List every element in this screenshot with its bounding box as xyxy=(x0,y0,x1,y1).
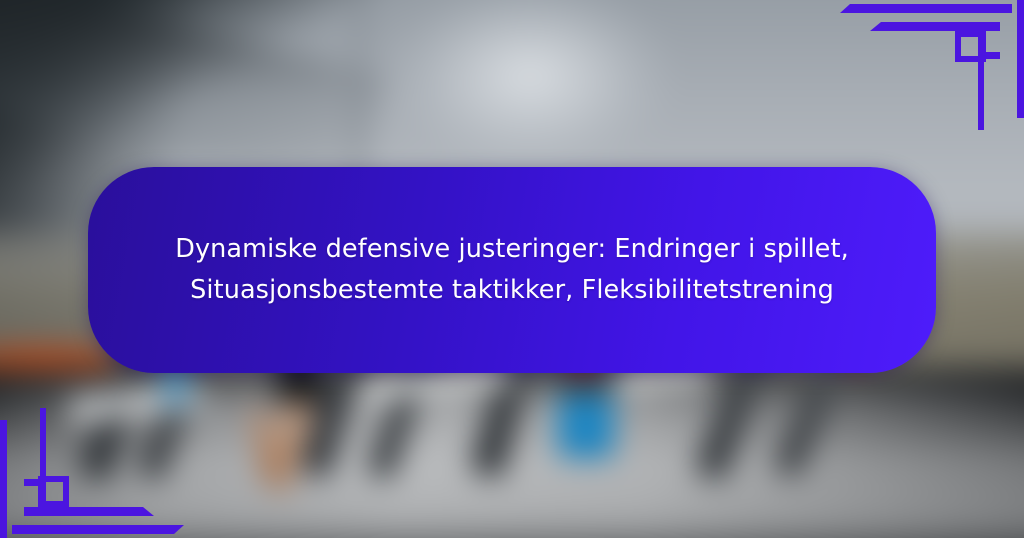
deco-vertical-line xyxy=(978,31,984,130)
corner-bracket-bottom-left xyxy=(0,403,200,538)
deco-vertical-line xyxy=(40,408,46,507)
page-title: Dynamiske defensive justeringer: Endring… xyxy=(175,229,849,311)
deco-connector xyxy=(978,52,1000,59)
page-title-line-1: Dynamiske defensive justeringer: Endring… xyxy=(175,229,849,270)
share-card-canvas: Dynamiske defensive justeringer: Endring… xyxy=(0,0,1024,538)
deco-connector xyxy=(24,479,46,486)
deco-bar-short xyxy=(24,507,154,516)
background-light-glow xyxy=(390,0,670,170)
deco-bar-short xyxy=(870,22,1000,31)
deco-edge-vertical xyxy=(1017,0,1024,118)
deco-bar-long xyxy=(840,4,1012,13)
headline-card: Dynamiske defensive justeringer: Endring… xyxy=(88,167,936,373)
page-title-line-2: Situasjonsbestemte taktikker, Fleksibili… xyxy=(175,270,849,311)
corner-bracket-top-right xyxy=(824,0,1024,130)
deco-bar-long xyxy=(12,525,184,534)
deco-edge-vertical xyxy=(0,420,7,538)
